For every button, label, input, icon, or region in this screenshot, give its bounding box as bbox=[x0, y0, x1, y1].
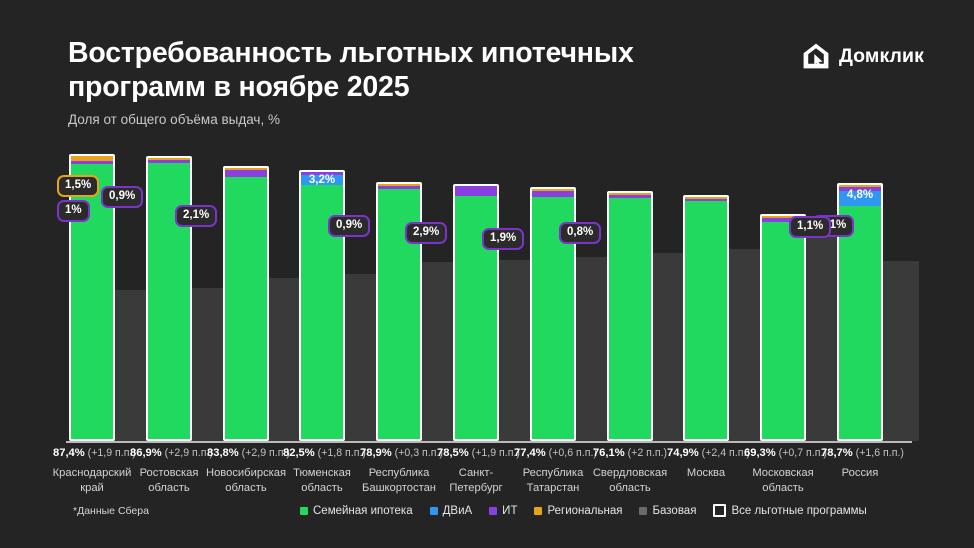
preferential-programs-bar bbox=[223, 166, 269, 441]
total-label-group: 86,9% (+2,9 п.п.) bbox=[130, 447, 208, 459]
total-value: 74,9% bbox=[667, 447, 699, 459]
legend-label: Все льготные программы bbox=[731, 505, 866, 517]
total-value: 78,5% bbox=[437, 447, 469, 459]
total-value: 78,7% bbox=[821, 447, 853, 459]
family-mortgage-segment bbox=[685, 201, 727, 441]
total-label-group: 76,1% (+2 п.п.) bbox=[591, 447, 669, 459]
segment-callout: 1,1% bbox=[789, 216, 831, 238]
legend-item[interactable]: Региональная bbox=[534, 505, 622, 517]
segment-callout: 0,8% bbox=[559, 222, 601, 244]
total-value: 83,8% bbox=[207, 447, 239, 459]
segment-callout: 1% bbox=[57, 200, 90, 222]
legend-label: ИТ bbox=[502, 505, 517, 517]
total-value: 78,9% bbox=[360, 447, 392, 459]
dvia-value-label: 4,8% bbox=[837, 189, 883, 201]
preferential-programs-bar bbox=[376, 182, 422, 441]
category-label: Новосибирская область bbox=[206, 466, 286, 495]
total-label-group: 78,7% (+1,6 п.п.) bbox=[821, 447, 899, 459]
total-label-group: 83,8% (+2,9 п.п.) bbox=[207, 447, 285, 459]
total-label-group: 78,5% (+1,9 п.п.) bbox=[437, 447, 515, 459]
total-delta: (+0,6 п.п.) bbox=[546, 447, 597, 459]
total-value: 82,5% bbox=[283, 447, 315, 459]
chart-legend: Семейная ипотекаДВиАИТРегиональнаяБазова… bbox=[300, 504, 867, 517]
segment-callout: 1,5% bbox=[57, 175, 99, 197]
legend-swatch bbox=[430, 507, 438, 515]
category-label: Московская область bbox=[743, 466, 823, 495]
preferential-programs-bar bbox=[760, 214, 806, 441]
legend-item[interactable]: Семейная ипотека bbox=[300, 505, 413, 517]
category-label: Ростовская область bbox=[129, 466, 209, 495]
segment-callout: 0,9% bbox=[328, 215, 370, 237]
total-delta: (+0,3 п.п.) bbox=[392, 447, 443, 459]
segment-callout: 1,9% bbox=[482, 228, 524, 250]
preferential-programs-bar bbox=[299, 170, 345, 441]
chart-plot-area: 12,6%84,7%1,5%1%87,4% (+1,9 п.п.)Краснод… bbox=[0, 0, 974, 548]
total-label-group: 69,3% (+0,7 п.п.) bbox=[744, 447, 822, 459]
preferential-programs-bar bbox=[453, 184, 499, 441]
family-mortgage-segment bbox=[762, 222, 804, 441]
category-label: Тюменская область bbox=[282, 466, 362, 495]
dvia-value-label: 3,2% bbox=[299, 174, 345, 186]
legend-item[interactable]: Базовая bbox=[639, 505, 696, 517]
family-mortgage-segment bbox=[225, 177, 267, 441]
total-label-group: 82,5% (+1,8 п.п.) bbox=[283, 447, 361, 459]
total-value: 69,3% bbox=[744, 447, 776, 459]
it-segment bbox=[455, 186, 497, 196]
segment-callout: 0,9% bbox=[101, 186, 143, 208]
total-label-group: 77,4% (+0,6 п.п.) bbox=[514, 447, 592, 459]
legend-item[interactable]: ИТ bbox=[489, 505, 517, 517]
family-mortgage-segment bbox=[609, 198, 651, 441]
legend-label: Семейная ипотека bbox=[313, 505, 413, 517]
total-value: 76,1% bbox=[593, 447, 625, 459]
total-value: 77,4% bbox=[514, 447, 546, 459]
total-delta: (+0,7 п.п.) bbox=[776, 447, 827, 459]
total-label-group: 74,9% (+2,4 п.п.) bbox=[667, 447, 745, 459]
legend-item[interactable]: Все льготные программы bbox=[713, 504, 866, 517]
category-label: Республика Татарстан bbox=[513, 466, 593, 495]
segment-callout: 2,1% bbox=[175, 205, 217, 227]
total-label-group: 87,4% (+1,9 п.п.) bbox=[53, 447, 131, 459]
legend-swatch bbox=[300, 507, 308, 515]
total-delta: (+1,8 п.п.) bbox=[315, 447, 366, 459]
total-delta: (+2 п.п.) bbox=[625, 447, 667, 459]
total-value: 86,9% bbox=[130, 447, 162, 459]
legend-swatch bbox=[489, 507, 497, 515]
legend-label: Региональная bbox=[547, 505, 622, 517]
preferential-programs-bar bbox=[146, 156, 192, 441]
category-label: Москва bbox=[666, 466, 746, 481]
total-delta: (+1,9 п.п.) bbox=[85, 447, 136, 459]
category-label: Россия bbox=[820, 466, 900, 481]
x-axis-line bbox=[66, 441, 912, 443]
legend-label: ДВиА bbox=[443, 505, 473, 517]
category-label: Краснодарский край bbox=[52, 466, 132, 495]
legend-label: Базовая bbox=[652, 505, 696, 517]
total-delta: (+2,9 п.п.) bbox=[162, 447, 213, 459]
legend-swatch bbox=[534, 507, 542, 515]
total-delta: (+1,9 п.п.) bbox=[469, 447, 520, 459]
legend-swatch bbox=[639, 507, 647, 515]
category-label: Свердловская область bbox=[590, 466, 670, 495]
footnote: *Данные Сбера bbox=[73, 505, 149, 517]
preferential-programs-bar bbox=[683, 195, 729, 441]
legend-item[interactable]: ДВиА bbox=[430, 505, 473, 517]
chart-canvas: Востребованность льготных ипотечных прог… bbox=[0, 0, 974, 548]
preferential-programs-bar bbox=[607, 191, 653, 441]
legend-swatch bbox=[713, 504, 726, 517]
it-segment bbox=[225, 170, 267, 177]
total-delta: (+2,4 п.п.) bbox=[699, 447, 750, 459]
segment-callout: 2,9% bbox=[405, 222, 447, 244]
family-mortgage-segment bbox=[839, 206, 881, 441]
total-value: 87,4% bbox=[53, 447, 85, 459]
category-label: Республика Башкортостан bbox=[359, 466, 439, 495]
category-label: Санкт-Петербург bbox=[436, 466, 516, 495]
total-label-group: 78,9% (+0,3 п.п.) bbox=[360, 447, 438, 459]
total-delta: (+1,6 п.п.) bbox=[853, 447, 904, 459]
